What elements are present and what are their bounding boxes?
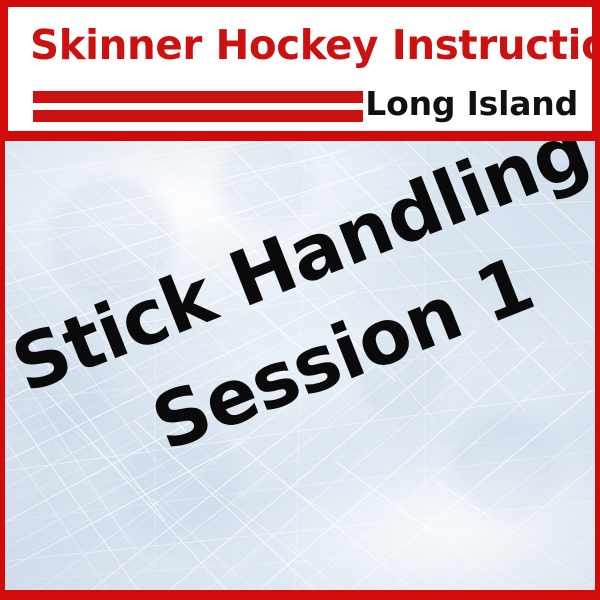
header-band: Skinner Hockey Instruction Long Island bbox=[0, 0, 600, 141]
rule-bar-gap bbox=[33, 103, 363, 110]
red-rule-group bbox=[33, 91, 363, 122]
ice-vignette bbox=[5, 141, 595, 590]
organization-title: Skinner Hockey Instruction bbox=[30, 21, 578, 69]
region-title: Long Island bbox=[365, 85, 578, 123]
ice-rink-background: Stick Handling Session 1 bbox=[5, 141, 595, 590]
rule-bar-top bbox=[33, 91, 363, 103]
header-white-card: Skinner Hockey Instruction Long Island bbox=[8, 7, 592, 131]
poster-canvas: Stick Handling Session 1 Skinner Hockey … bbox=[0, 0, 600, 600]
rule-bar-bottom bbox=[33, 110, 363, 122]
